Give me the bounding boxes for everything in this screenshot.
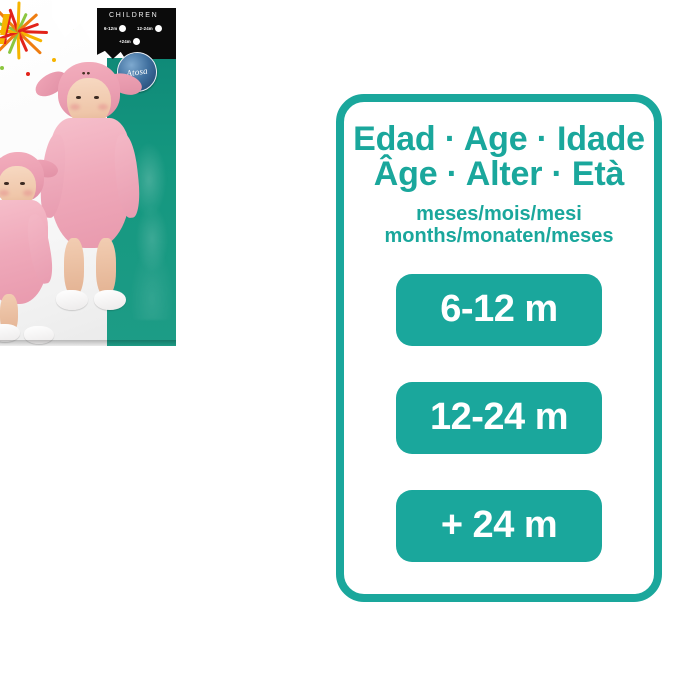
product-package-image[interactable]: ! CHILDREN 6-12m 12-24m +24m Atosa — [0, 0, 176, 346]
size-dot-icon[interactable] — [119, 25, 126, 32]
size-option-6-12m[interactable]: 6-12m — [104, 25, 126, 32]
age-badge-6-12m[interactable]: 6-12 m — [396, 274, 602, 346]
screenshot-root: ! CHILDREN 6-12m 12-24m +24m Atosa — [0, 0, 700, 700]
exclamation-mark-icon: ! — [0, 8, 11, 52]
heading-line-1: Edad · Age · Idade — [353, 120, 645, 158]
size-option-12-24m[interactable]: 12-24m — [137, 25, 162, 32]
size-option-label: 12-24m — [137, 26, 153, 31]
age-badge-plus-24m[interactable]: + 24 m — [396, 490, 602, 562]
size-dot-icon[interactable] — [155, 25, 162, 32]
size-option-label: 6-12m — [104, 26, 117, 31]
size-dot-icon[interactable] — [133, 38, 140, 45]
age-card-subtitle: meses/mois/mesi months/monaten/meses — [385, 203, 614, 248]
baby-in-pig-costume-secondary — [0, 152, 56, 342]
subtitle-line-1: meses/mois/mesi — [416, 203, 582, 225]
age-badge-12-24m[interactable]: 12-24 m — [396, 382, 602, 454]
age-card-heading: Edad · Age · Idade Âge · Alter · Età — [353, 122, 645, 193]
size-option-label: +24m — [119, 39, 131, 44]
baby-in-pig-costume-main — [42, 62, 138, 324]
heading-line-2: Âge · Alter · Età — [353, 157, 645, 192]
age-badge-list: 6-12 m 12-24 m + 24 m — [344, 274, 654, 562]
children-label-title: CHILDREN — [109, 12, 158, 19]
size-option-plus-24m[interactable]: +24m — [119, 38, 140, 45]
subtitle-line-2: months/monaten/meses — [385, 225, 614, 247]
package-drop-shadow — [0, 340, 176, 346]
age-info-card: Edad · Age · Idade Âge · Alter · Età mes… — [336, 94, 662, 602]
